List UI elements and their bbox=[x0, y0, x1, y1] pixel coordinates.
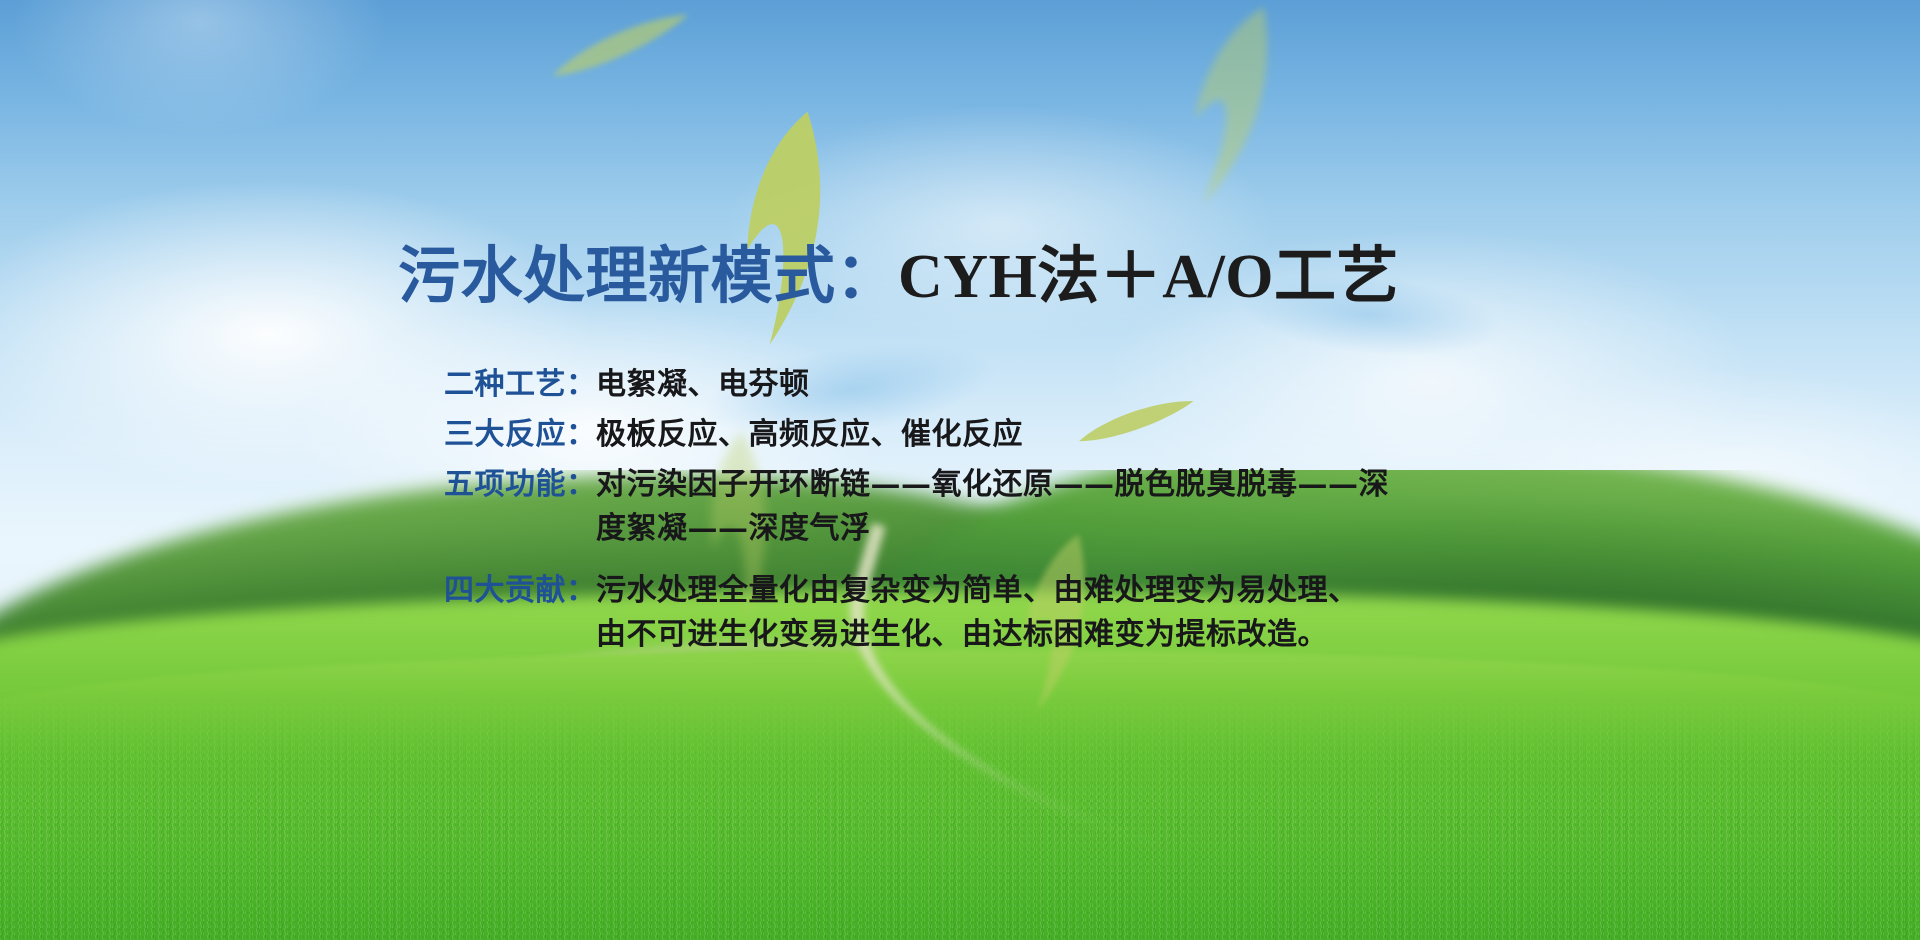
page-title-rest: CYH法＋A/O工艺 bbox=[898, 243, 1399, 311]
feature-row-colon: ： bbox=[566, 363, 596, 407]
feature-row-line: 极板反应、高频反应、催化反应 bbox=[596, 413, 1518, 457]
feature-row: 三大反应：极板反应、高频反应、催化反应 bbox=[398, 413, 1518, 457]
feature-row-line: 对污染因子开环断链——氧化还原——脱色脱臭脱毒——深 bbox=[596, 463, 1518, 507]
feature-row-text: 电絮凝、电芬顿 bbox=[596, 363, 1518, 407]
slide-canvas: 污水处理新模式：CYH法＋A/O工艺 二种工艺：电絮凝、电芬顿三大反应：极板反应… bbox=[0, 0, 1920, 940]
feature-row-line: 污水处理全量化由复杂变为简单、由难处理变为易处理、 bbox=[596, 569, 1518, 613]
feature-row: 四大贡献：污水处理全量化由复杂变为简单、由难处理变为易处理、由不可进生化变易进生… bbox=[398, 569, 1518, 657]
feature-row-line: 度絮凝——深度气浮 bbox=[596, 507, 1518, 551]
feature-list: 二种工艺：电絮凝、电芬顿三大反应：极板反应、高频反应、催化反应五项功能：对污染因… bbox=[398, 363, 1518, 664]
feature-row-colon: ： bbox=[566, 413, 596, 457]
feature-row-label: 四大贡献 bbox=[398, 569, 566, 613]
feature-row-text: 对污染因子开环断链——氧化还原——脱色脱臭脱毒——深度絮凝——深度气浮 bbox=[596, 463, 1518, 551]
feature-row-label: 三大反应 bbox=[398, 413, 566, 457]
feature-row-line: 由不可进生化变易进生化、由达标困难变为提标改造。 bbox=[596, 613, 1518, 657]
slide-content: 污水处理新模式：CYH法＋A/O工艺 二种工艺：电絮凝、电芬顿三大反应：极板反应… bbox=[0, 0, 1920, 940]
feature-row-text: 污水处理全量化由复杂变为简单、由难处理变为易处理、由不可进生化变易进生化、由达标… bbox=[596, 569, 1518, 657]
feature-row-text: 极板反应、高频反应、催化反应 bbox=[596, 413, 1518, 457]
feature-row-colon: ： bbox=[566, 569, 596, 613]
feature-row-line: 电絮凝、电芬顿 bbox=[596, 363, 1518, 407]
feature-row-label: 二种工艺 bbox=[398, 363, 566, 407]
feature-row: 五项功能：对污染因子开环断链——氧化还原——脱色脱臭脱毒——深度絮凝——深度气浮 bbox=[398, 463, 1518, 551]
page-title-highlight: 污水处理新模式： bbox=[398, 239, 898, 312]
page-title: 污水处理新模式：CYH法＋A/O工艺 bbox=[398, 245, 1399, 308]
feature-row: 二种工艺：电絮凝、电芬顿 bbox=[398, 363, 1518, 407]
feature-row-label: 五项功能 bbox=[398, 463, 566, 507]
feature-row-colon: ： bbox=[566, 463, 596, 507]
